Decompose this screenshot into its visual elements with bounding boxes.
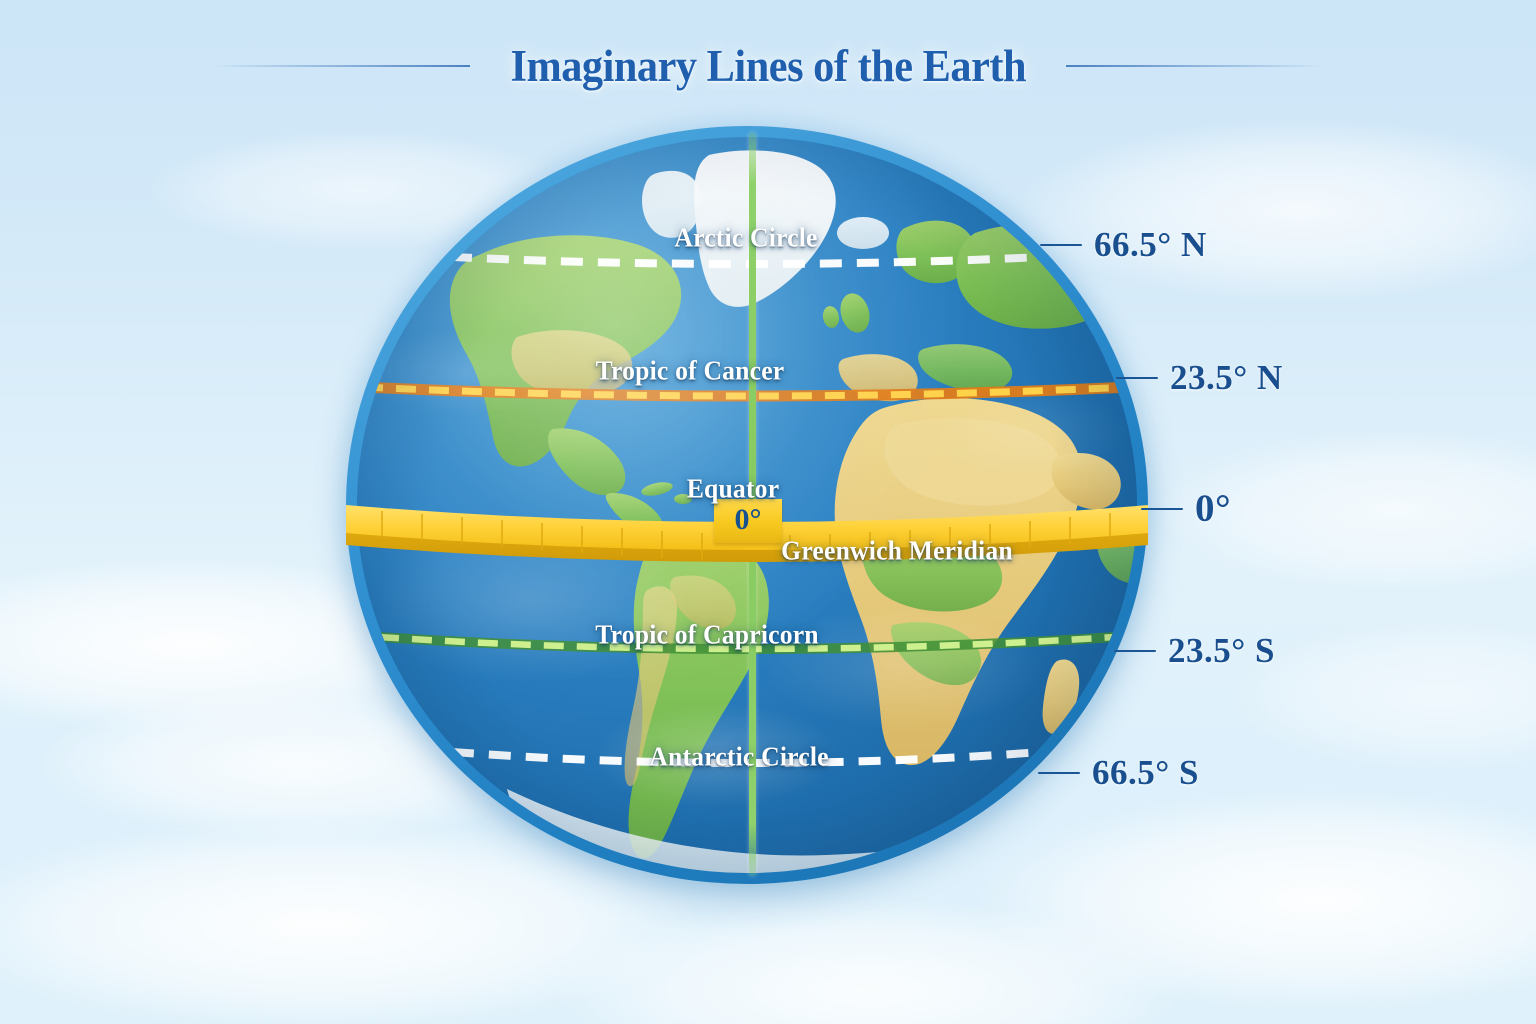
zero-degree-label: 0° xyxy=(735,505,762,535)
leader-line xyxy=(1040,244,1082,246)
leader-line xyxy=(1141,508,1183,510)
callout-tropic-of-cancer: 23.5° N xyxy=(1116,358,1283,398)
title-bar: Imaginary Lines of the Earth xyxy=(0,40,1536,92)
cloud-wisp xyxy=(560,900,1180,1024)
title-rule-right xyxy=(1066,65,1326,67)
callout-tropic-of-capricorn: 23.5° S xyxy=(1114,631,1275,671)
page-title: Imaginary Lines of the Earth xyxy=(510,40,1026,92)
leader-line xyxy=(1116,377,1158,379)
cloud-wisp xyxy=(1230,620,1536,770)
leader-line xyxy=(1038,772,1080,774)
diagram-canvas: Imaginary Lines of the Earth xyxy=(0,0,1536,1024)
leader-line xyxy=(1114,650,1156,652)
degree-label-66-5-n: 66.5° N xyxy=(1094,225,1207,265)
callout-antarctic-circle: 66.5° S xyxy=(1038,753,1199,793)
zero-degree-badge: 0° xyxy=(714,499,782,543)
degree-label-23-5-s: 23.5° S xyxy=(1168,631,1275,671)
degree-label-0: 0° xyxy=(1195,486,1231,531)
callout-arctic-circle: 66.5° N xyxy=(1040,225,1207,265)
title-rule-left xyxy=(210,65,470,67)
callout-equator: 0° xyxy=(1141,486,1231,531)
degree-label-66-5-s: 66.5° S xyxy=(1092,753,1199,793)
degree-label-23-5-n: 23.5° N xyxy=(1170,358,1283,398)
